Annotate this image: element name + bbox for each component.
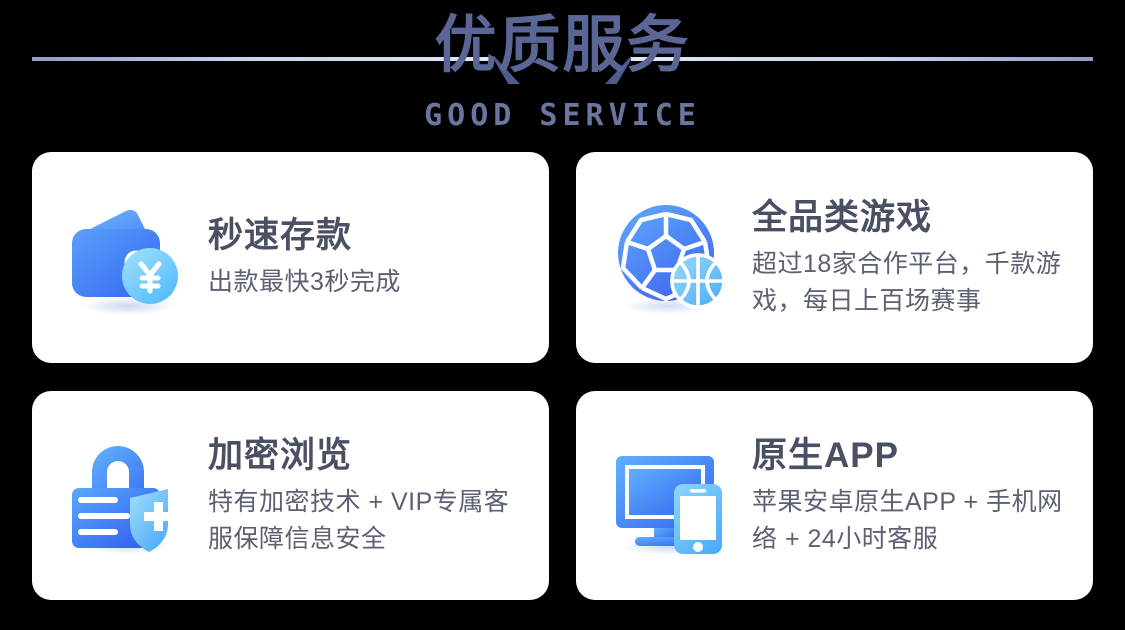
page-title: 优质服务 — [0, 6, 1125, 84]
card-title: 加密浏览 — [208, 434, 527, 478]
card-title: 秒速存款 — [208, 214, 527, 258]
feature-card-grid: 秒速存款 出款最快3秒完成 — [32, 152, 1093, 600]
monitor-phone-icon — [608, 434, 732, 558]
feature-card-native-app[interactable]: 原生APP 苹果安卓原生APP + 手机网络 + 24小时客服 — [576, 391, 1093, 600]
card-description: 超过18家合作平台，千款游戏，每日上百场赛事 — [752, 246, 1071, 320]
card-title: 全品类游戏 — [752, 196, 1071, 240]
card-text-block: 全品类游戏 超过18家合作平台，千款游戏，每日上百场赛事 — [752, 196, 1071, 320]
section-header: 优质服务 GOOD SERVICE — [0, 0, 1125, 150]
feature-card-games[interactable]: 全品类游戏 超过18家合作平台，千款游戏，每日上百场赛事 — [576, 152, 1093, 363]
feature-card-deposit[interactable]: 秒速存款 出款最快3秒完成 — [32, 152, 549, 363]
card-description: 苹果安卓原生APP + 手机网络 + 24小时客服 — [752, 484, 1071, 558]
padlock-shield-icon — [64, 434, 188, 558]
card-text-block: 秒速存款 出款最快3秒完成 — [208, 214, 527, 301]
wallet-icon — [64, 196, 188, 320]
feature-card-encryption[interactable]: 加密浏览 特有加密技术 + VIP专属客服保障信息安全 — [32, 391, 549, 600]
card-description: 特有加密技术 + VIP专属客服保障信息安全 — [208, 484, 527, 558]
card-description: 出款最快3秒完成 — [208, 264, 527, 301]
promo-panel: 优质服务 GOOD SERVICE — [0, 0, 1125, 630]
card-text-block: 原生APP 苹果安卓原生APP + 手机网络 + 24小时客服 — [752, 434, 1071, 558]
page-subtitle: GOOD SERVICE — [0, 98, 1125, 134]
card-title: 原生APP — [752, 434, 1071, 478]
card-text-block: 加密浏览 特有加密技术 + VIP专属客服保障信息安全 — [208, 434, 527, 558]
soccer-ball-icon — [608, 196, 732, 320]
